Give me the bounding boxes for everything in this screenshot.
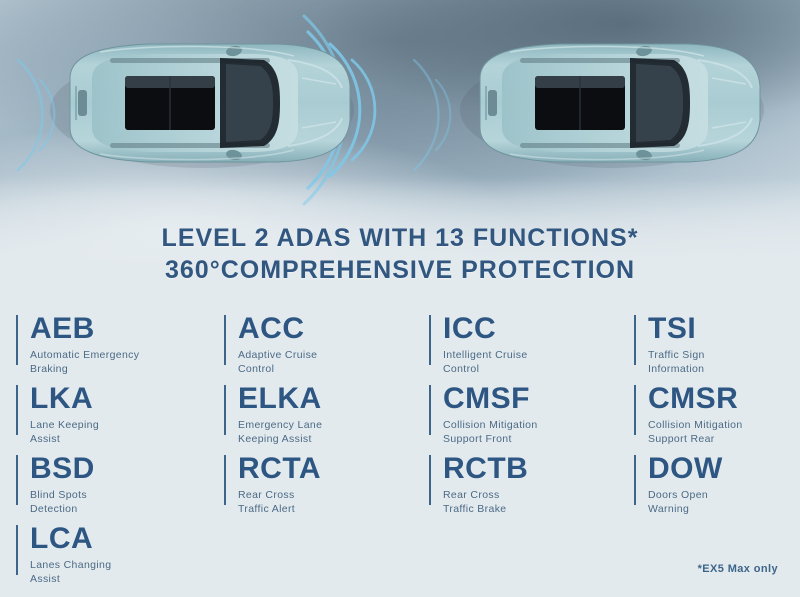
feature-item-rcta[interactable]: RCTA Rear CrossTraffic Alert	[222, 446, 427, 516]
feature-abbr: BSD	[30, 452, 222, 485]
feature-item-cmsf[interactable]: CMSF Collision MitigationSupport Front	[427, 376, 632, 446]
feature-desc: Lanes ChangingAssist	[30, 559, 222, 586]
accent-bar	[429, 385, 431, 435]
headline-line-1: LEVEL 2 ADAS WITH 13 FUNCTIONS*	[0, 222, 800, 254]
feature-item-lka[interactable]: LKA Lane KeepingAssist	[14, 376, 222, 446]
feature-slot-empty	[427, 516, 632, 586]
feature-abbr: DOW	[648, 452, 786, 485]
feature-item-icc[interactable]: ICC Intelligent CruiseControl	[427, 306, 632, 376]
accent-bar	[634, 455, 636, 505]
feature-abbr: CMSR	[648, 382, 786, 415]
feature-desc: Emergency LaneKeeping Assist	[238, 419, 427, 446]
page-title: LEVEL 2 ADAS WITH 13 FUNCTIONS* 360°COMP…	[0, 222, 800, 286]
feature-abbr: LKA	[30, 382, 222, 415]
feature-desc: Blind SpotsDetection	[30, 489, 222, 516]
accent-bar	[634, 385, 636, 435]
accent-bar	[16, 455, 18, 505]
feature-item-bsd[interactable]: BSD Blind SpotsDetection	[14, 446, 222, 516]
accent-bar	[224, 455, 226, 505]
feature-item-tsi[interactable]: TSI Traffic SignInformation	[632, 306, 786, 376]
feature-desc: Collision MitigationSupport Front	[443, 419, 632, 446]
feature-abbr: ELKA	[238, 382, 427, 415]
feature-abbr: ICC	[443, 312, 632, 345]
accent-bar	[224, 385, 226, 435]
footnote: *EX5 Max only	[698, 563, 778, 575]
feature-slot-empty	[632, 516, 786, 586]
feature-desc: Automatic EmergencyBraking	[30, 349, 222, 376]
feature-item-elka[interactable]: ELKA Emergency LaneKeeping Assist	[222, 376, 427, 446]
feature-desc: Traffic SignInformation	[648, 349, 786, 376]
feature-abbr: CMSF	[443, 382, 632, 415]
feature-desc: Adaptive CruiseControl	[238, 349, 427, 376]
accent-bar	[16, 525, 18, 575]
accent-bar	[16, 385, 18, 435]
feature-abbr: ACC	[238, 312, 427, 345]
feature-desc: Intelligent CruiseControl	[443, 349, 632, 376]
accent-bar	[634, 315, 636, 365]
vehicle-left	[40, 38, 360, 168]
feature-row: BSD Blind SpotsDetection RCTA Rear Cross…	[14, 446, 786, 516]
feature-slot-empty	[222, 516, 427, 586]
feature-desc: Rear CrossTraffic Brake	[443, 489, 632, 516]
feature-desc: Rear CrossTraffic Alert	[238, 489, 427, 516]
feature-row: AEB Automatic EmergencyBraking ACC Adapt…	[14, 306, 786, 376]
feature-item-acc[interactable]: ACC Adaptive CruiseControl	[222, 306, 427, 376]
feature-item-lca[interactable]: LCA Lanes ChangingAssist	[14, 516, 222, 586]
feature-desc: Lane KeepingAssist	[30, 419, 222, 446]
feature-item-rctb[interactable]: RCTB Rear CrossTraffic Brake	[427, 446, 632, 516]
accent-bar	[16, 315, 18, 365]
feature-item-dow[interactable]: DOW Doors OpenWarning	[632, 446, 786, 516]
accent-bar	[429, 455, 431, 505]
feature-abbr: RCTA	[238, 452, 427, 485]
feature-row: LKA Lane KeepingAssist ELKA Emergency La…	[14, 376, 786, 446]
feature-abbr: AEB	[30, 312, 222, 345]
feature-row: LCA Lanes ChangingAssist	[14, 516, 786, 586]
accent-bar	[429, 315, 431, 365]
accent-bar	[224, 315, 226, 365]
feature-desc: Doors OpenWarning	[648, 489, 786, 516]
feature-item-cmsr[interactable]: CMSR Collision MitigationSupport Rear	[632, 376, 786, 446]
feature-abbr: LCA	[30, 522, 222, 555]
feature-abbr: RCTB	[443, 452, 632, 485]
feature-abbr: TSI	[648, 312, 786, 345]
vehicle-right	[450, 38, 770, 168]
adas-feature-grid: AEB Automatic EmergencyBraking ACC Adapt…	[0, 298, 800, 597]
feature-desc: Collision MitigationSupport Rear	[648, 419, 786, 446]
headline-line-2: 360°COMPREHENSIVE PROTECTION	[0, 254, 800, 286]
feature-item-aeb[interactable]: AEB Automatic EmergencyBraking	[14, 306, 222, 376]
